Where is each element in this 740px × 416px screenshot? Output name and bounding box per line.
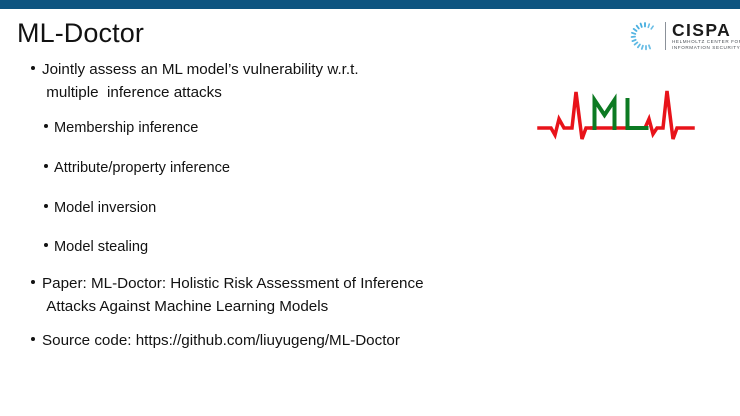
list-item: Model inversion — [0, 197, 520, 219]
bullet-dot-icon — [31, 66, 35, 70]
list-item-text: Membership inference — [54, 117, 520, 139]
list-item-text: Paper: ML-Doctor: Holistic Risk Assessme… — [42, 273, 520, 318]
top-accent-bar — [0, 0, 740, 9]
cispa-name: CISPA — [672, 21, 740, 39]
ml-heartbeat-logo-icon — [536, 80, 696, 144]
list-item: Paper: ML-Doctor: Holistic Risk Assessme… — [0, 273, 520, 318]
bullet-dot-icon — [31, 337, 35, 341]
list-item: Membership inference — [0, 117, 520, 139]
list-item: Source code: https://github.com/liuyugen… — [0, 330, 520, 353]
bullet-dot-icon — [44, 204, 48, 208]
list-item-text: Model stealing — [54, 236, 520, 258]
cispa-c-mark-icon — [629, 20, 661, 52]
bullet-dot-icon — [44, 243, 48, 247]
bullet-dot-icon — [44, 164, 48, 168]
page-title: ML-Doctor — [17, 17, 144, 49]
bullet-dot-icon — [31, 280, 35, 284]
list-item: Jointly assess an ML model’s vulnerabili… — [0, 59, 520, 104]
list-item-text: Source code: https://github.com/liuyugen… — [42, 330, 520, 353]
list-item: Attribute/property inference — [0, 157, 520, 179]
list-item: Model stealing — [0, 236, 520, 258]
cispa-tagline-line2: INFORMATION SECURITY — [672, 45, 740, 51]
list-item-text: Attribute/property inference — [54, 157, 520, 179]
cispa-logo: CISPA HELMHOLTZ CENTER FOR INFORMATION S… — [629, 16, 735, 56]
cispa-wordmark: CISPA HELMHOLTZ CENTER FOR INFORMATION S… — [672, 21, 740, 51]
bullet-dot-icon — [44, 124, 48, 128]
logo-divider — [665, 22, 666, 50]
list-item-text: Jointly assess an ML model’s vulnerabili… — [42, 59, 520, 104]
list-item-text: Model inversion — [54, 197, 520, 219]
slide-canvas: ML-Doctor Jointly assess an ML model’s v… — [0, 0, 740, 416]
bullet-list: Jointly assess an ML model’s vulnerabili… — [0, 59, 520, 353]
